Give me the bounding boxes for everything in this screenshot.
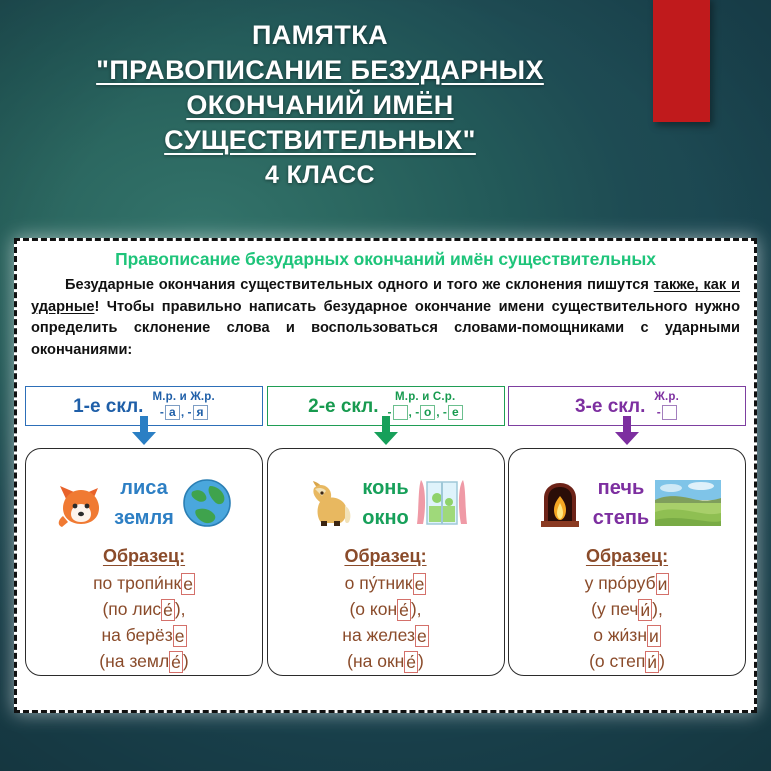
example-boxed-ending: е́ — [169, 651, 183, 673]
example-suffix: ), — [411, 599, 422, 619]
example-suffix: ) — [418, 651, 424, 671]
example-suffix: ), — [652, 599, 663, 619]
example-boxed-ending: е — [181, 573, 195, 595]
example-prefix: (о кон — [349, 599, 397, 619]
word-stack-1: лиса земля — [114, 473, 174, 533]
down-arrow-icon-1 — [131, 416, 157, 446]
example-prefix: о пу́тник — [345, 573, 413, 593]
word-stack-3: печь степь — [593, 473, 649, 533]
word-row-3: печь степь — [509, 465, 745, 541]
rule-body-part2: ! Чтобы правильно написать безударное ок… — [31, 299, 740, 358]
down-arrow-icon-2 — [373, 416, 399, 446]
ending-box: я — [193, 405, 208, 420]
gender-label-3: Ж.р. — [654, 392, 679, 404]
ending-box: е — [448, 405, 463, 420]
steppe-landscape-icon — [655, 480, 721, 526]
example-prefix: у про́руб — [585, 573, 656, 593]
example-prefix: на берёз — [101, 625, 172, 645]
word-2a: конь — [362, 473, 408, 503]
example-boxed-ending: е́ — [161, 599, 175, 621]
example-suffix: ) — [183, 651, 189, 671]
ending-box: о — [420, 405, 435, 420]
declension-label-3: 3-е скл. — [575, 397, 645, 416]
declension-label-2: 2-е скл. — [308, 397, 378, 416]
example-prefix: (на окн — [347, 651, 404, 671]
example-line: (у печи́), — [509, 596, 745, 622]
example-suffix: ), — [175, 599, 186, 619]
example-prefix: (по лис — [102, 599, 161, 619]
example-prefix: на желез — [342, 625, 415, 645]
example-boxed-ending: е — [415, 625, 429, 647]
example-prefix: по тропи́нк — [93, 573, 181, 593]
example-line: (по лисе́), — [26, 596, 262, 622]
stove-fire-icon — [533, 476, 587, 530]
dash: - — [160, 406, 164, 418]
gender-label-1: М.р. и Ж.р. — [152, 392, 214, 404]
ending-box: а — [165, 405, 180, 420]
declension-column-1: 1-е скл. М.р. и Ж.р. -а , -я — [25, 386, 263, 704]
word-row-2: конь окно — [268, 465, 504, 541]
example-suffix: ) — [659, 651, 665, 671]
window-icon — [415, 476, 469, 530]
down-arrow-icon-3 — [614, 416, 640, 446]
example-line: у про́руби — [509, 570, 745, 596]
word-1b: земля — [114, 503, 174, 533]
word-2b: окно — [362, 503, 409, 533]
example-title-3: Образец: — [509, 543, 745, 569]
title-line-1: ПАМЯТКА — [0, 18, 640, 53]
gender-label-2: М.р. и С.р. — [395, 392, 455, 404]
fox-icon — [54, 476, 108, 530]
example-line: (на земле́) — [26, 648, 262, 674]
red-accent-bar — [653, 0, 710, 122]
example-boxed-ending: е́ — [397, 599, 411, 621]
declension-column-3: 3-е скл. Ж.р. - — [508, 386, 746, 704]
ending-box-zero — [662, 405, 677, 420]
endings-group-1: М.р. и Ж.р. -а , -я — [152, 392, 214, 420]
earth-globe-icon — [180, 476, 234, 530]
comma: , - — [181, 406, 192, 418]
word-panel-3: печь степь — [508, 448, 746, 676]
rule-body: Безударные окончания существительных одн… — [31, 275, 740, 361]
example-prefix: о жи́зн — [593, 625, 647, 645]
ending-row-2: - , -о , -е — [388, 405, 463, 420]
example-title-2: Образец: — [268, 543, 504, 569]
poster-title: ПАМЯТКА "ПРАВОПИСАНИЕ БЕЗУДАРНЫХ ОКОНЧАН… — [0, 18, 640, 193]
example-title-1: Образец: — [26, 543, 262, 569]
example-line: на берёзе — [26, 622, 262, 648]
example-boxed-ending: и́ — [638, 599, 652, 621]
example-line: о жи́зни — [509, 622, 745, 648]
example-boxed-ending: и — [656, 573, 670, 595]
declension-columns: 1-е скл. М.р. и Ж.р. -а , -я — [25, 386, 746, 704]
example-prefix: (на земл — [99, 651, 169, 671]
poster-root: ПАМЯТКА "ПРАВОПИСАНИЕ БЕЗУДАРНЫХ ОКОНЧАН… — [0, 0, 771, 771]
example-boxed-ending: е́ — [404, 651, 418, 673]
endings-group-3: Ж.р. - — [654, 392, 679, 420]
word-3b: степь — [593, 503, 649, 533]
comma: , - — [436, 406, 447, 418]
examples-1: Образец: по тропи́нке (по лисе́), на бер… — [26, 543, 262, 674]
title-line-3: ОКОНЧАНИЙ ИМЁН — [0, 88, 640, 123]
word-panel-2: конь окно — [267, 448, 505, 676]
example-prefix: (о степ — [589, 651, 645, 671]
examples-2: Образец: о пу́тнике (о коне́), на железе… — [268, 543, 504, 674]
example-line: (на окне́) — [268, 648, 504, 674]
example-boxed-ending: и́ — [645, 651, 659, 673]
title-line-2: "ПРАВОПИСАНИЕ БЕЗУДАРНЫХ — [0, 53, 640, 88]
example-boxed-ending: е — [173, 625, 187, 647]
declension-column-2: 2-е скл. М.р. и С.р. - , -о , -е — [267, 386, 505, 704]
word-stack-2: конь окно — [362, 473, 409, 533]
rule-title: Правописание безударных окончаний имён с… — [25, 247, 746, 271]
example-boxed-ending: е — [413, 573, 427, 595]
example-line: на железе — [268, 622, 504, 648]
ending-row-1: -а , -я — [160, 405, 208, 420]
examples-3: Образец: у про́руби (у печи́), о жи́зни … — [509, 543, 745, 674]
rule-body-part1: Безударные окончания существительных одн… — [65, 277, 654, 293]
content-card: Правописание безударных окончаний имён с… — [14, 238, 757, 713]
dash: - — [657, 406, 661, 418]
example-line: (о степи́) — [509, 648, 745, 674]
word-row-1: лиса земля — [26, 465, 262, 541]
word-3a: печь — [598, 473, 645, 503]
example-boxed-ending: и — [647, 625, 661, 647]
example-line: (о коне́), — [268, 596, 504, 622]
example-line: о пу́тнике — [268, 570, 504, 596]
word-panel-1: лиса земля — [25, 448, 263, 676]
comma: , - — [409, 406, 420, 418]
word-1a: лиса — [120, 473, 168, 503]
title-line-4: СУЩЕСТВИТЕЛЬНЫХ" — [0, 123, 640, 158]
declension-label-1: 1-е скл. — [73, 397, 143, 416]
endings-group-2: М.р. и С.р. - , -о , -е — [388, 392, 463, 420]
example-prefix: (у печ — [591, 599, 638, 619]
example-line: по тропи́нке — [26, 570, 262, 596]
horse-icon — [302, 476, 356, 530]
title-line-5: 4 КЛАСС — [0, 158, 640, 193]
ending-row-3: - — [657, 405, 677, 420]
